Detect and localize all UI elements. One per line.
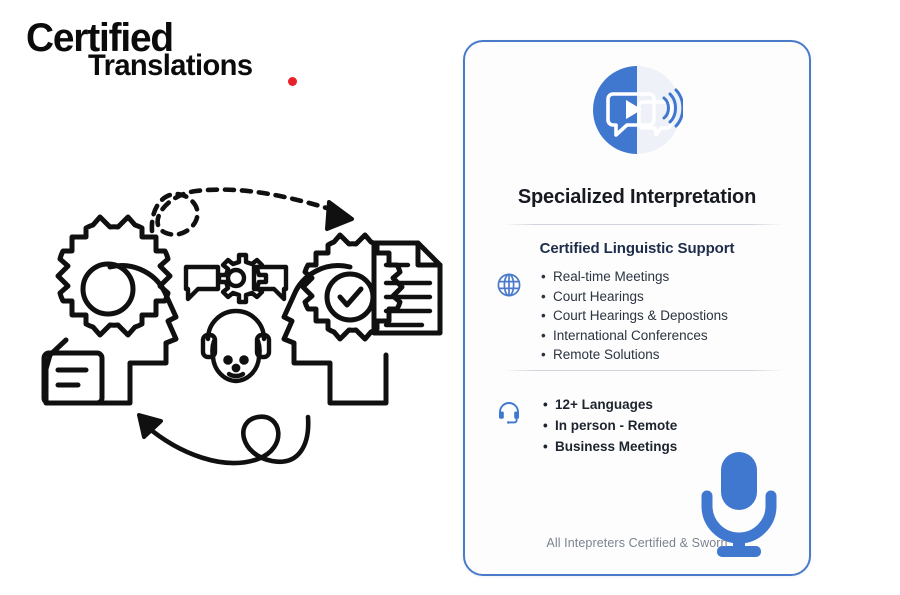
brand-logo: Certified Translations — [26, 18, 296, 88]
list-item: Remote Solutions — [553, 345, 728, 365]
divider-middle — [503, 370, 783, 371]
divider-top — [503, 224, 783, 225]
list-item: 12+ Languages — [555, 394, 677, 415]
card-title: Specialized Interpretation — [465, 186, 809, 209]
list-item: In person - Remote — [555, 415, 677, 436]
list-item: International Conferences — [553, 326, 728, 346]
globe-icon — [495, 267, 525, 299]
curved-return-arrow-icon — [139, 415, 308, 463]
interpreter-headset-icon — [186, 255, 286, 381]
gear-head-icon — [44, 217, 176, 403]
headset-icon — [495, 394, 525, 426]
section-heading: Certified Linguistic Support — [465, 240, 809, 257]
card-footer-text: All Intepreters Certified & Sworn — [465, 536, 809, 550]
feature-list-globe: Real-time Meetings Court Hearings Court … — [537, 267, 728, 365]
brand-logo-line2: Translations — [88, 51, 252, 81]
feature-group-globe: Real-time Meetings Court Hearings Court … — [495, 267, 728, 365]
speech-bubble-left-icon — [186, 267, 218, 299]
dashed-loop-arrow-icon — [152, 190, 352, 235]
list-item: Court Hearings & Depostions — [553, 306, 728, 326]
video-speech-bubble-icon — [591, 64, 683, 156]
poster-canvas: Certified Translations — [0, 0, 900, 595]
specialized-interpretation-card[interactable]: Specialized Interpretation Certified Lin… — [463, 40, 811, 576]
verified-gear-head-icon — [284, 235, 402, 403]
interpretation-process-illustration — [0, 155, 460, 485]
gear-icon — [219, 255, 266, 302]
list-item: Real-time Meetings — [553, 267, 728, 287]
feature-list-headset: 12+ Languages In person - Remote Busines… — [537, 394, 677, 457]
brand-logo-dot — [288, 77, 297, 86]
feature-group-headset: 12+ Languages In person - Remote Busines… — [495, 394, 677, 457]
list-item: Business Meetings — [555, 436, 677, 457]
list-item: Court Hearings — [553, 287, 728, 307]
